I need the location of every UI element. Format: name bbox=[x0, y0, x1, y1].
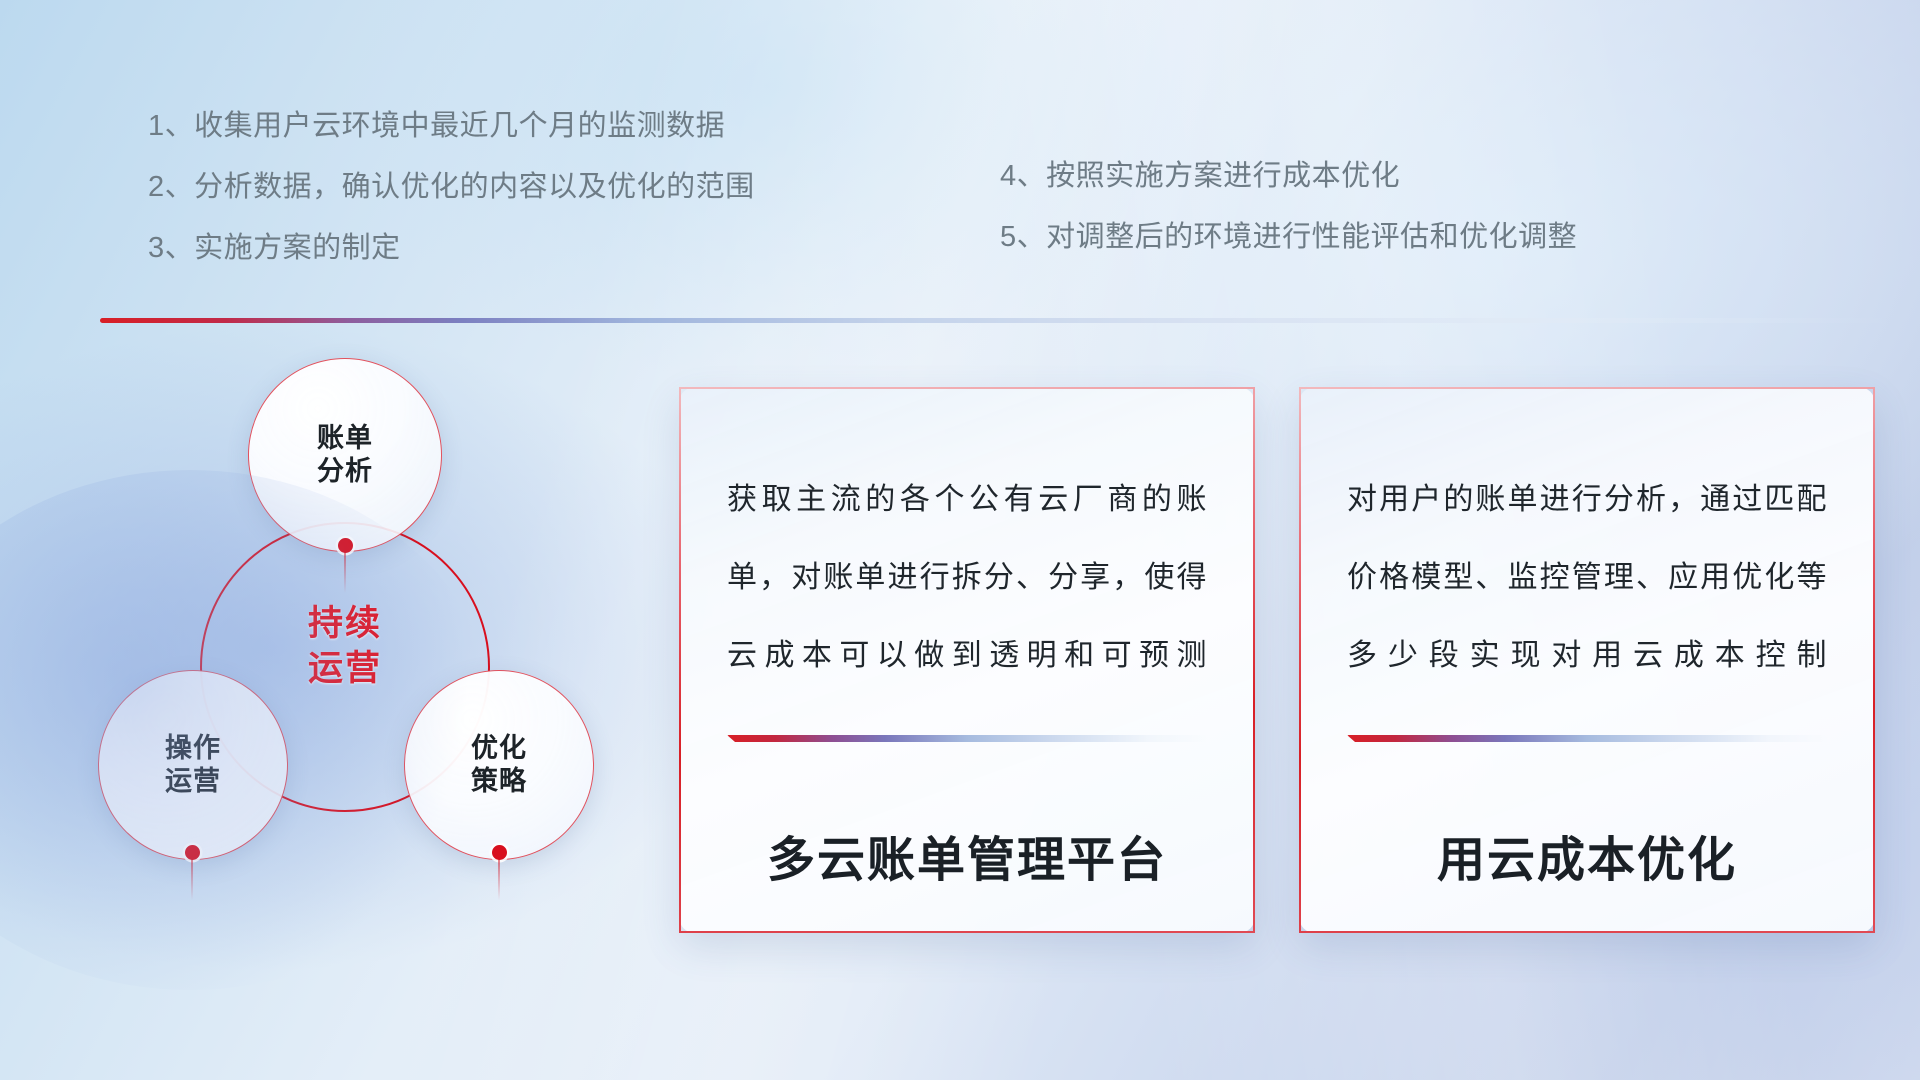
card-title: 用云成本优化 bbox=[1347, 820, 1827, 890]
bubble-label-line2: 运营 bbox=[165, 765, 221, 798]
bubble-label-line1: 优化 bbox=[471, 732, 527, 765]
step-item: 3、实施方案的制定 bbox=[148, 218, 888, 279]
bubble-bill-analysis[interactable]: 账单 分析 bbox=[248, 358, 442, 552]
step-item: 2、分析数据，确认优化的内容以及优化的范围 bbox=[148, 157, 888, 218]
step-item: 4、按照实施方案进行成本优化 bbox=[1000, 146, 1760, 207]
card-body-text: 对用户的账单进行分析，通过匹配价格模型、监控管理、应用优化等多少段实现对用云成本… bbox=[1347, 461, 1827, 695]
bubble-label-line1: 操作 bbox=[165, 732, 221, 765]
step-item: 1、收集用户云环境中最近几个月的监测数据 bbox=[148, 96, 888, 157]
steps-left-column: 1、收集用户云环境中最近几个月的监测数据 2、分析数据，确认优化的内容以及优化的… bbox=[148, 96, 888, 279]
bubble-operations[interactable]: 操作 运营 bbox=[98, 670, 288, 860]
card-body-text: 获取主流的各个公有云厂商的账单，对账单进行拆分、分享，使得云成本可以做到透明和可… bbox=[727, 461, 1207, 695]
slide-canvas: 1、收集用户云环境中最近几个月的监测数据 2、分析数据，确认优化的内容以及优化的… bbox=[0, 0, 1920, 1080]
bubble-label-line2: 分析 bbox=[317, 455, 373, 488]
steps-right-column: 4、按照实施方案进行成本优化 5、对调整后的环境进行性能评估和优化调整 bbox=[1000, 146, 1760, 268]
node-dot-icon bbox=[338, 538, 353, 553]
card-cloud-cost-optimization[interactable]: 对用户的账单进行分析，通过匹配价格模型、监控管理、应用优化等多少段实现对用云成本… bbox=[1299, 387, 1875, 933]
section-divider bbox=[100, 318, 1892, 323]
bubble-label-line2: 策略 bbox=[471, 765, 527, 798]
center-label-line1: 持续 bbox=[200, 602, 490, 647]
bubble-optimization-strategy[interactable]: 优化 策略 bbox=[404, 670, 594, 860]
card-accent-rule bbox=[1347, 735, 1827, 742]
card-accent-rule bbox=[727, 735, 1207, 742]
node-dot-icon bbox=[185, 845, 200, 860]
continuous-operation-diagram: 持续 运营 账单 分析 操作 运营 优化 策略 bbox=[96, 358, 656, 958]
step-item: 5、对调整后的环境进行性能评估和优化调整 bbox=[1000, 207, 1760, 268]
node-dot-icon bbox=[492, 845, 507, 860]
bubble-label-line1: 账单 bbox=[317, 422, 373, 455]
card-title: 多云账单管理平台 bbox=[727, 820, 1207, 890]
center-label: 持续 运营 bbox=[200, 602, 490, 692]
card-multi-cloud-bill-platform[interactable]: 获取主流的各个公有云厂商的账单，对账单进行拆分、分享，使得云成本可以做到透明和可… bbox=[679, 387, 1255, 933]
